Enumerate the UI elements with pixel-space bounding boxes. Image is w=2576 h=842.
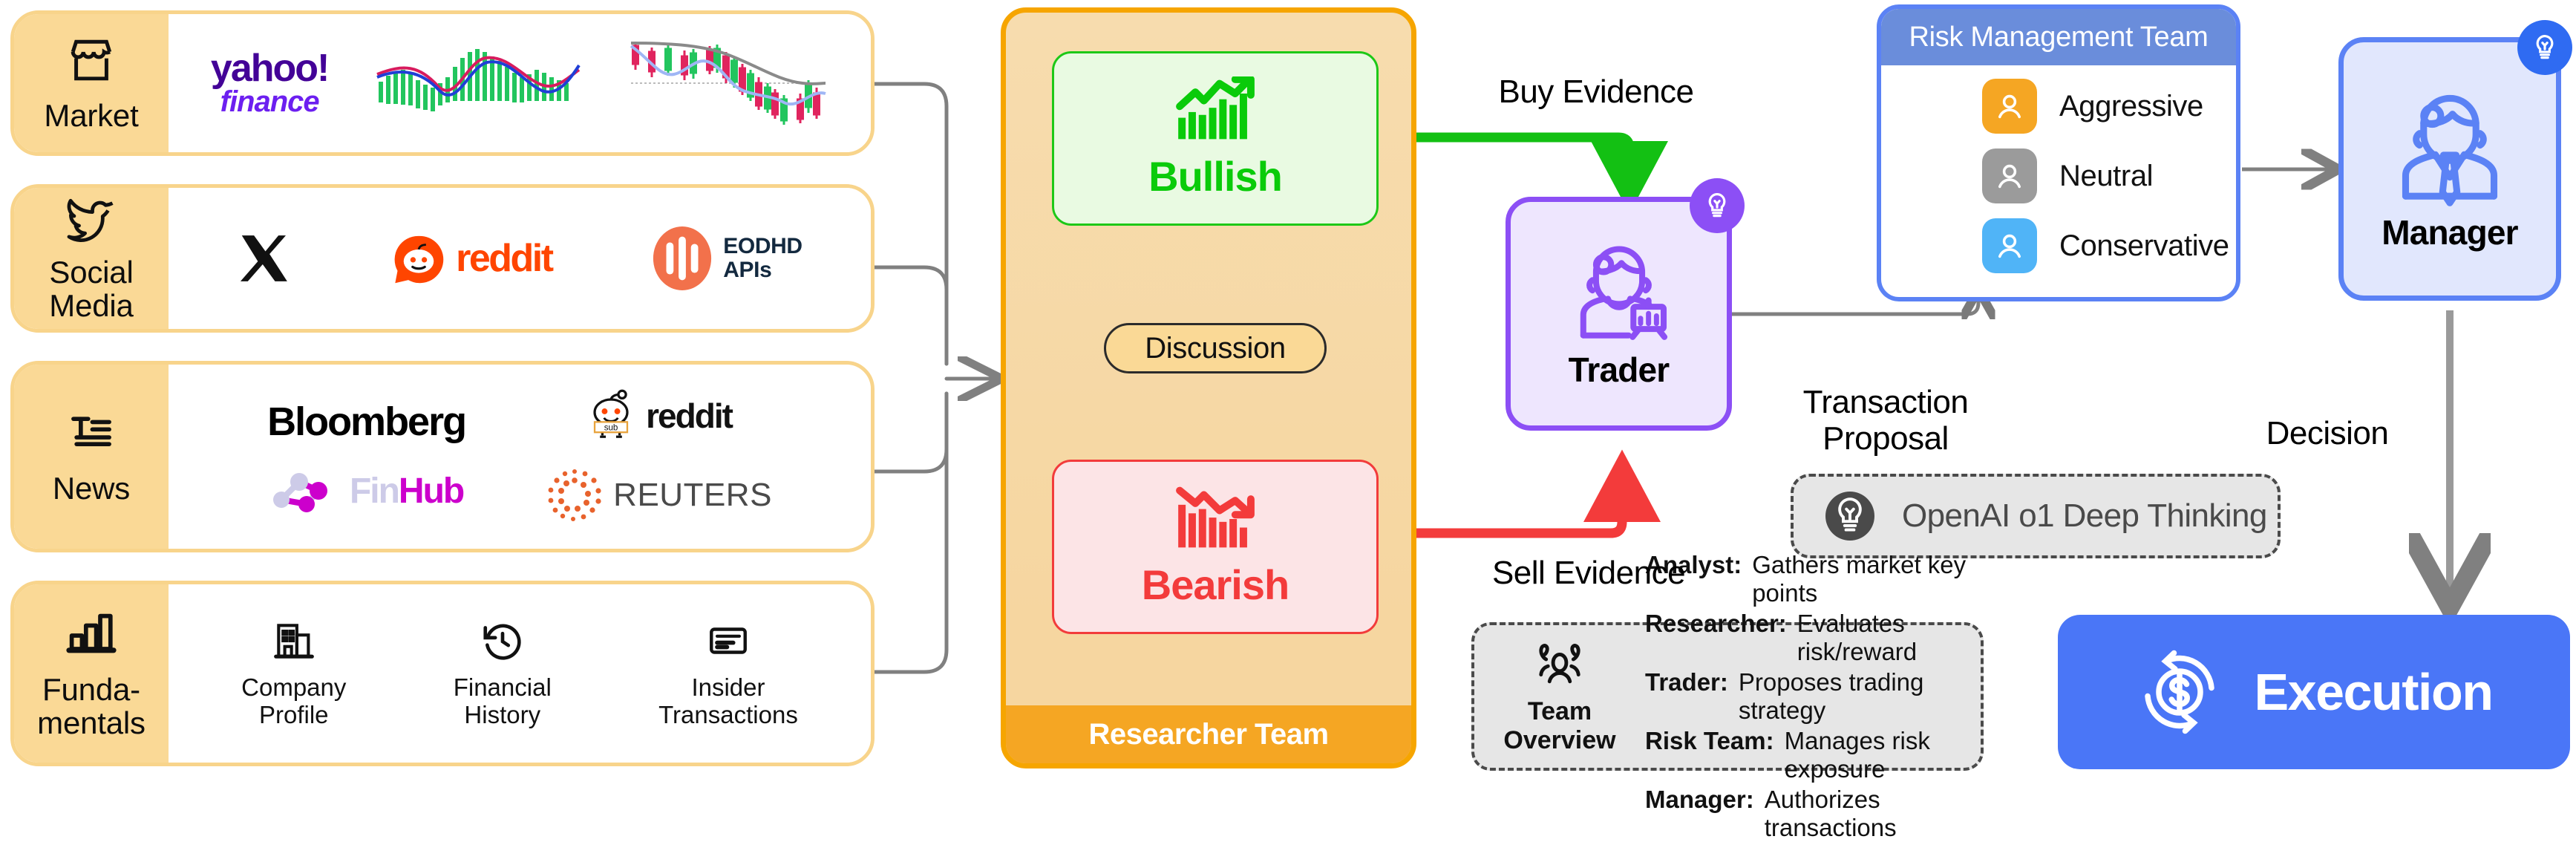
risk-member-aggressive[interactable]: Aggressive [1881, 79, 2236, 134]
person-avatar-icon [1992, 88, 2027, 124]
neutral-avatar-icon [1982, 149, 2037, 203]
finhub-hub: Hub [399, 471, 463, 511]
trader-person-presentation-icon [1563, 238, 1675, 350]
edge-label-decision: Decision [2220, 416, 2435, 451]
trader-label: Trader [1569, 350, 1670, 390]
reuters-wordmark: REUTERS [613, 477, 772, 514]
news-col-1: Bloomberg FinHub [267, 399, 465, 515]
sell-evidence-text: Sell Evidence [1492, 555, 1685, 591]
role-desc: Gathers market key points [1752, 551, 1967, 607]
finhub-fin: Fin [350, 471, 399, 511]
reddit-mascot-icon [390, 230, 447, 287]
risk-member-conservative[interactable]: Conservative [1881, 218, 2236, 273]
source-label-social-media: Social Media [14, 188, 169, 329]
edge-label-buy-evidence: Buy Evidence [1448, 74, 1745, 110]
bar-chart-icon [63, 607, 120, 660]
source-row-fundamentals[interactable]: Funda- mentals Company Profile [10, 581, 875, 766]
eodhd-mark-icon [650, 223, 714, 294]
bearish-label: Bearish [1142, 561, 1289, 609]
trader-bulb-badge[interactable] [1690, 178, 1745, 233]
team-overview-title: Team Overview [1503, 697, 1615, 755]
source-items-market: yahoo! finance [169, 14, 871, 152]
openai-deep-thinking-badge[interactable]: OpenAI o1 Deep Thinking [1791, 474, 2281, 558]
buy-evidence-text: Buy Evidence [1498, 74, 1693, 110]
diagram-canvas: Market yahoo! finance [0, 0, 2576, 776]
volume-candlestick-chart [374, 39, 582, 128]
bullish-card[interactable]: Bullish [1052, 51, 1379, 226]
team-overview-heading: Team Overview [1474, 638, 1645, 755]
manager-label: Manager [2382, 212, 2518, 252]
people-group-icon [1528, 638, 1592, 687]
source-items-fundamentals: Company Profile Financial History Inside… [169, 584, 871, 763]
office-building-icon [269, 618, 318, 664]
risk-member-label: Neutral [2059, 160, 2153, 193]
manager-bulb-badge[interactable] [2517, 20, 2572, 75]
source-label-market: Market [14, 14, 169, 152]
risk-member-label: Aggressive [2059, 90, 2203, 123]
role-name: Researcher: [1645, 610, 1787, 638]
reddit-wordmark: reddit [456, 236, 552, 281]
role-name: Manager: [1645, 786, 1754, 814]
risk-member-label: Conservative [2059, 229, 2229, 263]
article-text-icon [65, 408, 118, 459]
bullish-label: Bullish [1148, 152, 1282, 200]
svg-text:sub: sub [604, 423, 618, 432]
source-items-social-media: reddit EODHD APIs [169, 188, 871, 329]
lightbulb-icon [1823, 489, 1877, 543]
id-card-icon [704, 618, 753, 664]
reuters-logo[interactable]: REUTERS [545, 466, 772, 525]
yahoo-wordmark: yahoo! [211, 47, 328, 90]
insider-transactions-tile[interactable]: Insider Transactions [658, 618, 798, 729]
bloomberg-logo[interactable]: Bloomberg [267, 399, 465, 445]
researcher-team-panel[interactable]: Bullish Discussion Bearish [1001, 7, 1416, 768]
conservative-avatar-icon [1982, 218, 2037, 273]
openai-badge-label: OpenAI o1 Deep Thinking [1902, 497, 2267, 535]
execution-label: Execution [2254, 662, 2492, 722]
tile-caption: Insider Transactions [658, 674, 798, 729]
manager-card[interactable]: Manager [2338, 37, 2561, 301]
reddit-logo[interactable]: reddit [390, 230, 552, 287]
tile-caption: Financial History [454, 674, 552, 729]
team-overview-roles: Analyst: Gathers market key points Resea… [1645, 551, 1981, 842]
downtrend-bar-chart-icon [1171, 485, 1260, 553]
source-row-social-media[interactable]: Social Media reddit [10, 184, 875, 333]
manager-person-suit-icon [2387, 86, 2513, 212]
researcher-team-title: Researcher Team [1006, 705, 1411, 763]
risk-team-title-text: Risk Management Team [1909, 22, 2208, 53]
x-twitter-logo[interactable] [237, 231, 292, 286]
execution-card[interactable]: Execution [2058, 615, 2570, 769]
finhub-logo[interactable]: FinHub [269, 467, 463, 515]
reuters-dots-icon [545, 466, 604, 525]
risk-member-neutral[interactable]: Neutral [1881, 149, 2236, 203]
news-col-2: sub reddit [545, 388, 772, 525]
researcher-team-title-text: Researcher Team [1088, 718, 1328, 751]
storefront-icon [63, 34, 120, 86]
team-overview-box: Team Overview Analyst: Gathers market ke… [1471, 622, 1984, 771]
lightbulb-icon [1701, 190, 1733, 221]
source-label-text: News [53, 472, 130, 506]
transaction-proposal-text: Transaction Proposal [1803, 384, 1969, 456]
tile-caption: Company Profile [241, 674, 346, 729]
lightbulb-icon [2529, 32, 2560, 63]
financial-history-tile[interactable]: Financial History [454, 618, 552, 729]
risk-management-team-panel[interactable]: Risk Management Team Aggressive [1877, 4, 2240, 301]
person-avatar-icon [1992, 228, 2027, 264]
source-label-text: Social Media [49, 256, 133, 322]
aggressive-avatar-icon [1982, 79, 2037, 134]
role-desc: Authorizes transactions [1765, 786, 1967, 842]
yahoo-finance-logo[interactable]: yahoo! finance [211, 50, 328, 115]
subreddit-alien-icon: sub [585, 388, 637, 443]
role-row: Researcher: Evaluates risk/reward [1645, 610, 1967, 666]
source-items-news: Bloomberg FinHub [169, 365, 871, 549]
edge-label-transaction-proposal: Transaction Proposal [1759, 349, 2012, 457]
role-row: Risk Team: Manages risk exposure [1645, 727, 1967, 783]
role-desc: Manages risk exposure [1785, 727, 1967, 783]
role-row: Trader: Proposes trading strategy [1645, 668, 1967, 725]
dollar-refresh-icon [2135, 647, 2224, 737]
decision-text: Decision [2266, 415, 2389, 451]
finhub-wordmark: FinHub [350, 471, 463, 512]
finhub-mark-icon [269, 467, 341, 515]
discussion-label: Discussion [1145, 332, 1285, 365]
company-profile-tile[interactable]: Company Profile [241, 618, 346, 729]
downtrend-candlestick-chart [628, 31, 828, 135]
discussion-pill[interactable]: Discussion [1104, 323, 1327, 373]
eodhd-wordmark: EODHD APIs [723, 235, 802, 283]
role-desc: Proposes trading strategy [1739, 668, 1967, 725]
trader-card[interactable]: Trader [1506, 197, 1732, 431]
source-label-news: News [14, 365, 169, 549]
role-row: Manager: Authorizes transactions [1645, 786, 1967, 842]
bearish-card[interactable]: Bearish [1052, 460, 1379, 634]
role-name: Risk Team: [1645, 727, 1774, 755]
edge-label-sell-evidence: Sell Evidence [1440, 555, 1737, 591]
risk-team-title: Risk Management Team [1881, 9, 2236, 65]
source-label-text: Market [44, 99, 138, 133]
uptrend-bar-chart-icon [1171, 76, 1260, 145]
person-avatar-icon [1992, 158, 2027, 194]
eodhd-apis-logo[interactable]: EODHD APIs [650, 223, 802, 294]
clock-history-icon [478, 618, 527, 664]
role-name: Trader: [1645, 668, 1728, 696]
risk-team-members: Aggressive Neutral Conse [1881, 65, 2236, 288]
subreddit-logo[interactable]: sub reddit [585, 388, 732, 443]
twitter-bird-icon [64, 194, 119, 243]
subreddit-wordmark: reddit [646, 396, 732, 436]
eodhd-line1: EODHD [723, 234, 802, 258]
source-label-text: Funda- mentals [37, 673, 146, 740]
source-label-fundamentals: Funda- mentals [14, 584, 169, 763]
source-row-market[interactable]: Market yahoo! finance [10, 10, 875, 156]
eodhd-line2: APIs [723, 258, 771, 282]
finance-wordmark: finance [211, 88, 328, 116]
role-desc: Evaluates risk/reward [1797, 610, 1967, 666]
source-row-news[interactable]: News Bloomberg [10, 361, 875, 552]
